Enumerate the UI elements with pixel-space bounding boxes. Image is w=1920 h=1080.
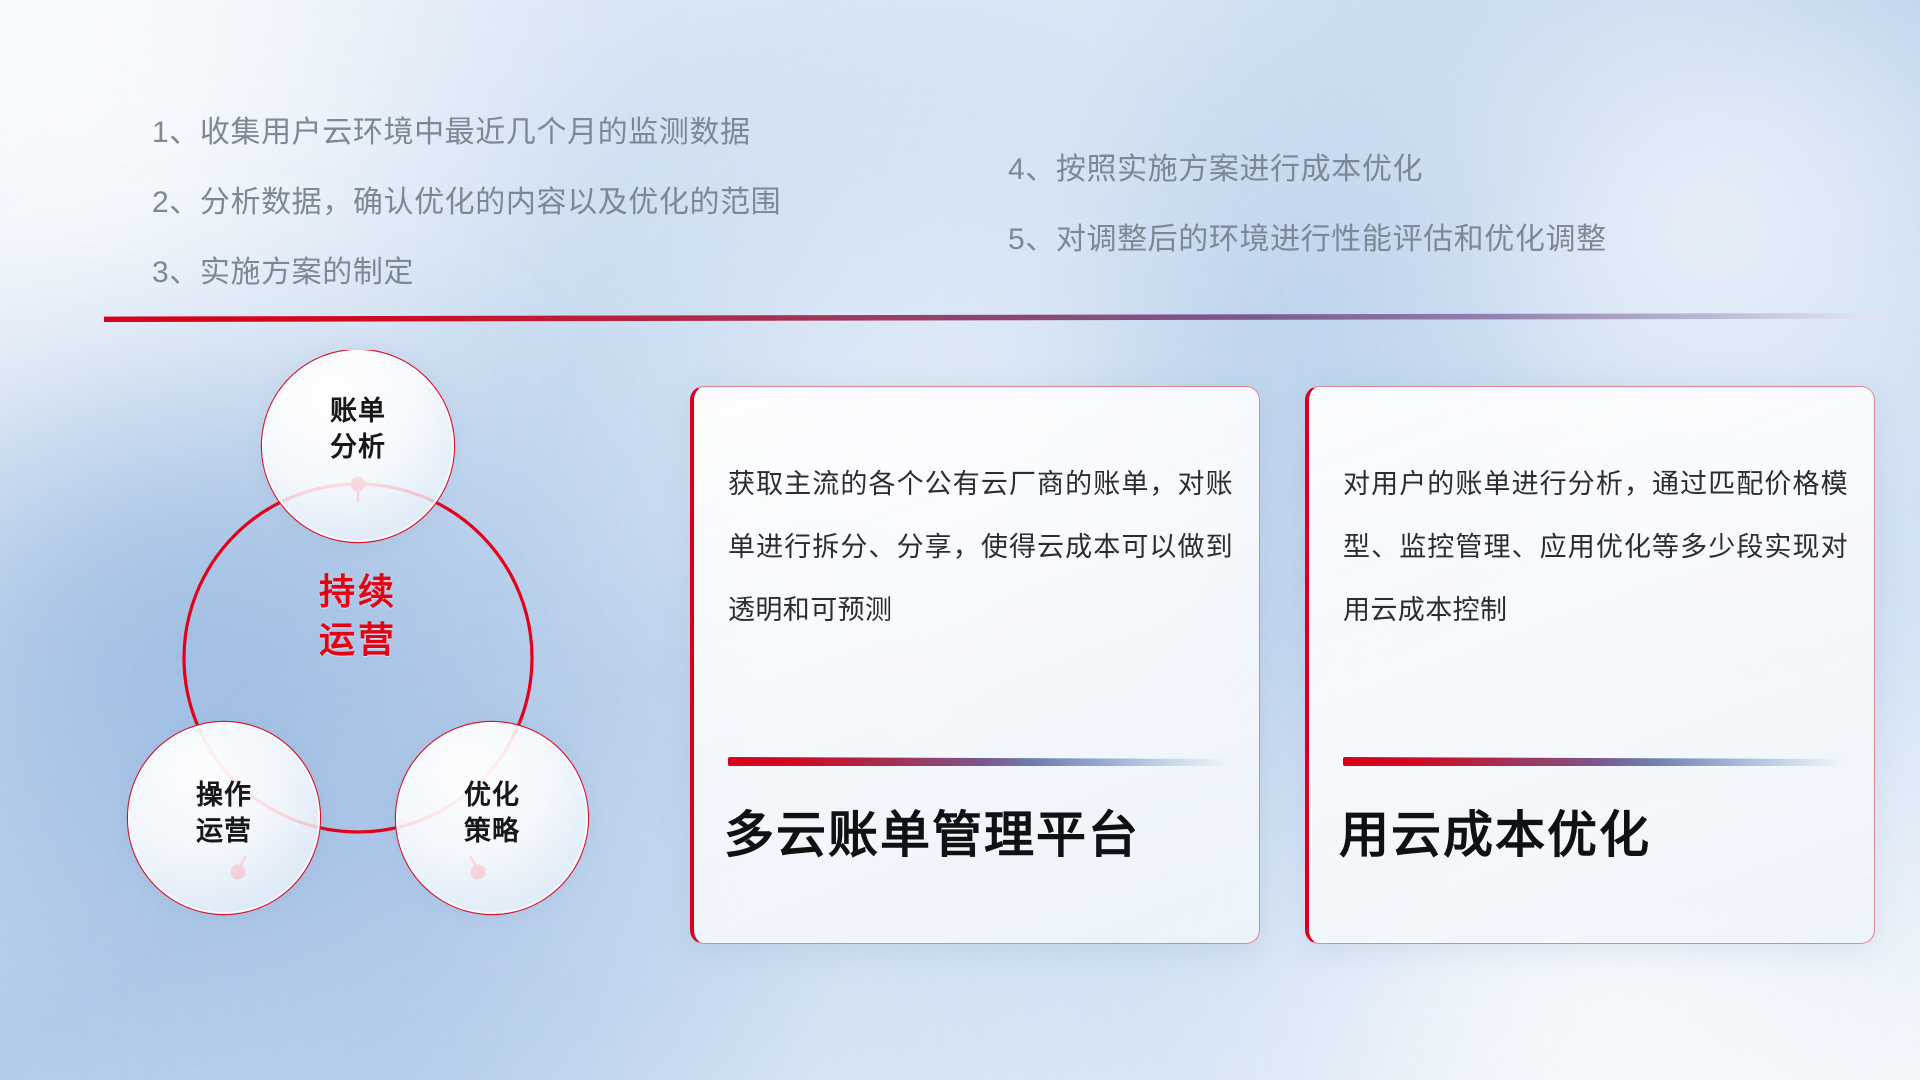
card-1-title: 多云账单管理平台 <box>724 805 1140 865</box>
card-2-body-text: 对用户的账单进行分析，通过匹配价格模型、监控管理、应用优化等多少段实现对用云成本… <box>1343 453 1848 643</box>
card-multi-cloud-billing[interactable]: 获取主流的各个公有云厂商的账单，对账单进行拆分、分享，使得云成本可以做到透明和可… <box>690 386 1260 944</box>
venn-lobe-bill-analysis[interactable]: 账单 分析 <box>262 350 454 542</box>
card-2-title: 用云成本优化 <box>1339 805 1651 865</box>
step-item-5: 5、对调整后的环境进行性能评估和优化调整 <box>1008 225 1607 255</box>
step-list-right-column: 4、按照实施方案进行成本优化 5、对调整后的环境进行性能评估和优化调整 <box>1008 155 1607 255</box>
card-2-divider <box>1343 757 1843 766</box>
venn-lobe-top-line2: 分析 <box>262 430 454 466</box>
venn-center-line2: 运营 <box>250 616 466 664</box>
venn-lobe-left-line1: 操作 <box>128 778 320 814</box>
card-cloud-cost-optimization[interactable]: 对用户的账单进行分析，通过匹配价格模型、监控管理、应用优化等多少段实现对用云成本… <box>1305 386 1875 944</box>
venn-lobe-optimization-strategy[interactable]: 优化 策略 <box>396 722 588 914</box>
step-item-4: 4、按照实施方案进行成本优化 <box>1008 155 1607 185</box>
step-item-2: 2、分析数据，确认优化的内容以及优化的范围 <box>152 188 781 218</box>
venn-lobe-right-line1: 优化 <box>396 778 588 814</box>
card-1-divider <box>728 757 1228 766</box>
venn-center-line1: 持续 <box>250 568 466 616</box>
venn-lobe-right-label: 优化 策略 <box>396 778 588 849</box>
venn-lobe-top-line1: 账单 <box>262 394 454 430</box>
venn-diagram: 账单 分析 操作 运营 优化 策略 持续 运营 <box>100 350 640 950</box>
venn-lobe-operations[interactable]: 操作 运营 <box>128 722 320 914</box>
venn-lobe-top-label: 账单 分析 <box>262 394 454 465</box>
step-item-3: 3、实施方案的制定 <box>152 258 781 288</box>
step-item-1: 1、收集用户云环境中最近几个月的监测数据 <box>152 118 781 148</box>
venn-lobe-left-label: 操作 运营 <box>128 778 320 849</box>
step-list-left-column: 1、收集用户云环境中最近几个月的监测数据 2、分析数据，确认优化的内容以及优化的… <box>152 118 781 288</box>
card-1-body-text: 获取主流的各个公有云厂商的账单，对账单进行拆分、分享，使得云成本可以做到透明和可… <box>728 453 1233 643</box>
venn-lobe-right-line2: 策略 <box>396 814 588 850</box>
venn-center-label: 持续 运营 <box>250 568 466 664</box>
venn-lobe-left-line2: 运营 <box>128 814 320 850</box>
